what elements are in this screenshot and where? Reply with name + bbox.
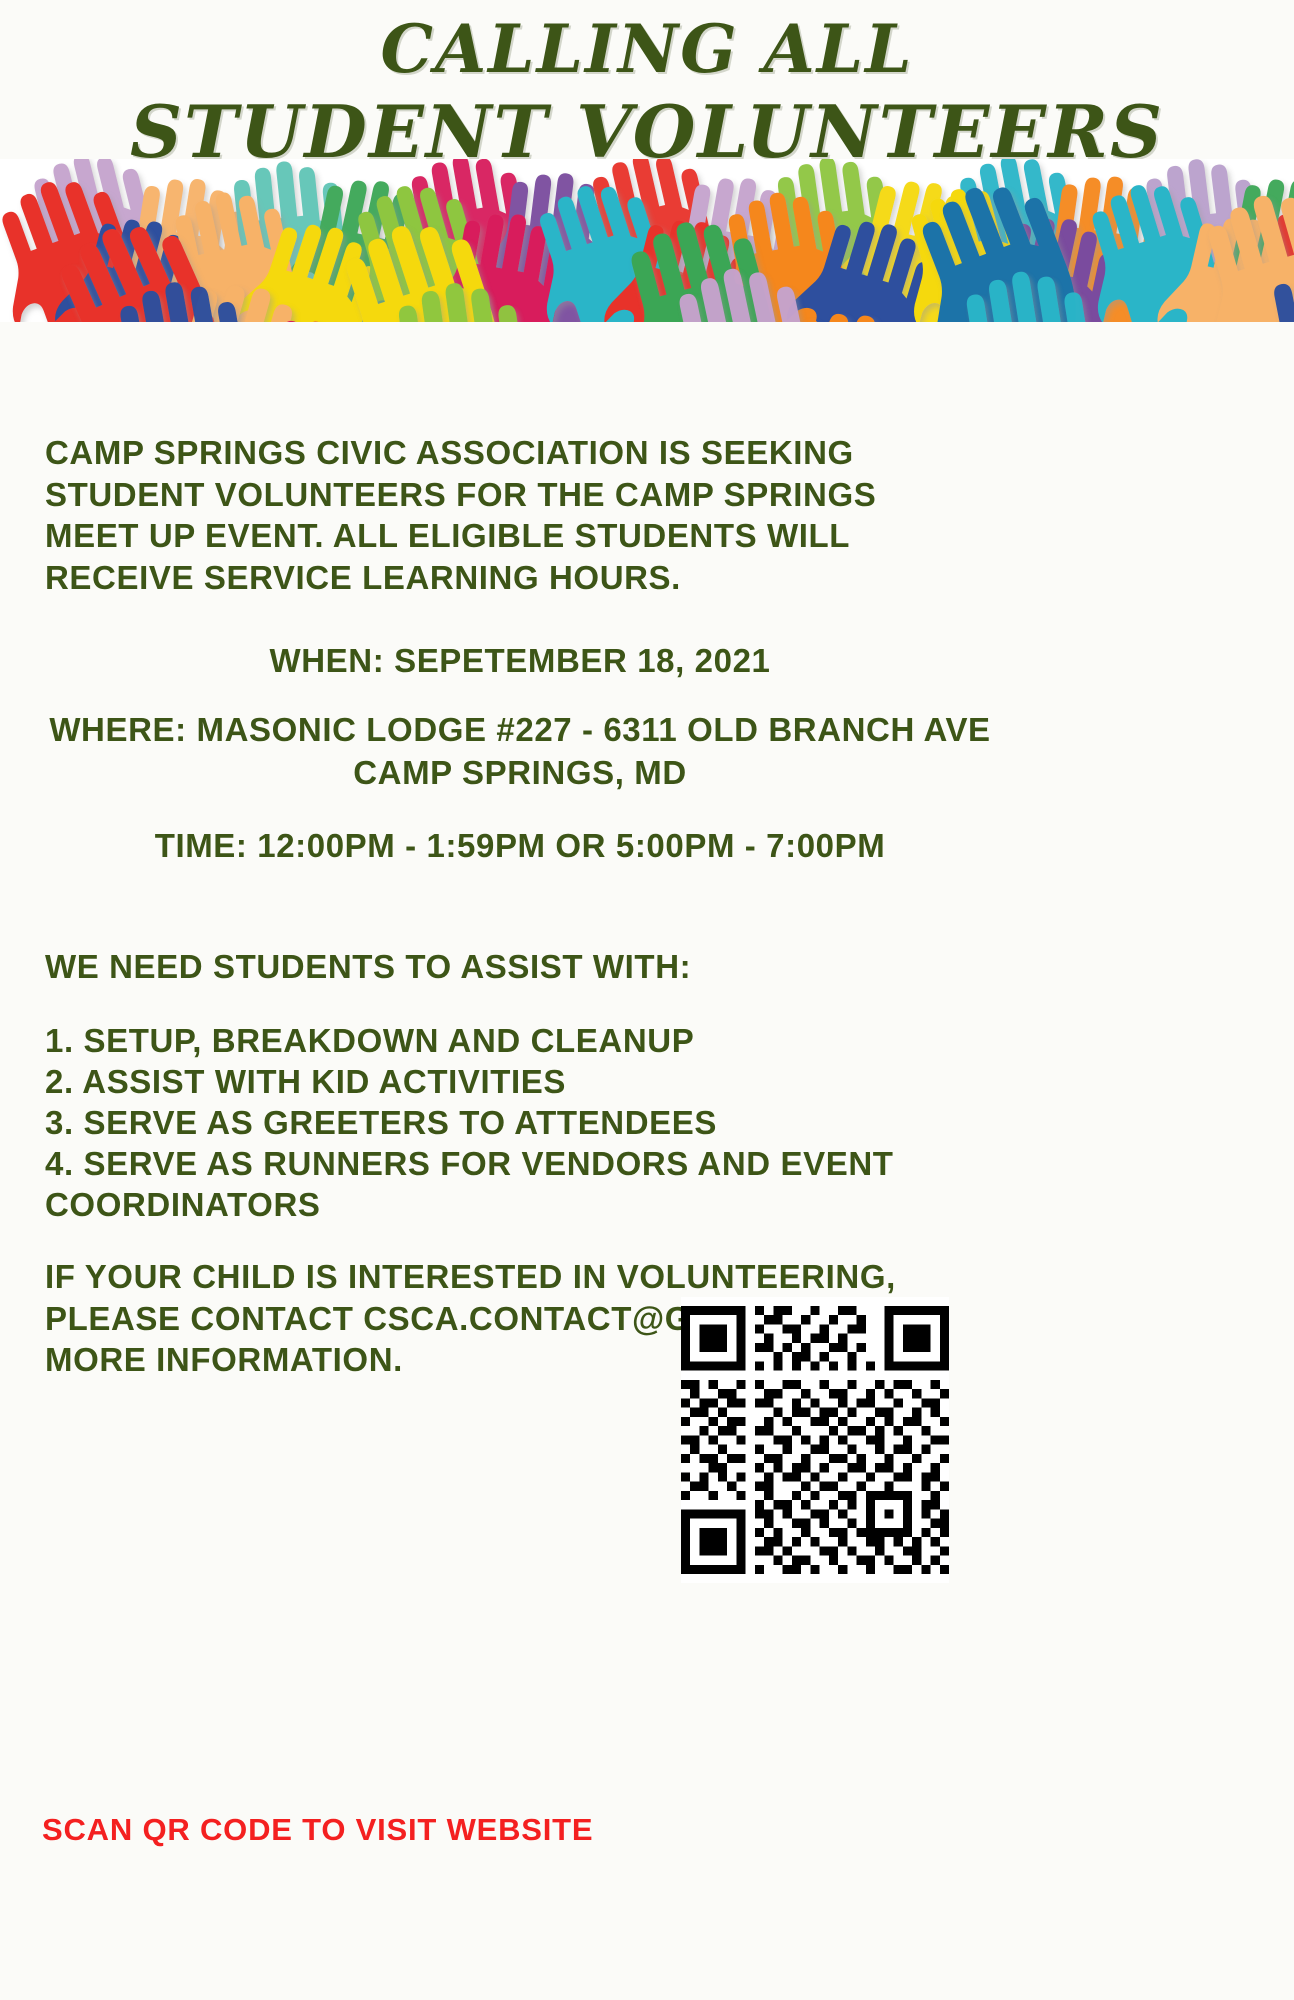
colorful-hands-banner (0, 159, 1294, 322)
list-item: 3. SERVE AS GREETERS TO ATTENDEES (45, 1103, 1005, 1144)
list-item: 4. SERVE AS RUNNERS FOR VENDORS AND EVEN… (45, 1144, 1005, 1226)
time-line: TIME: 12:00PM - 1:59PM OR 5:00PM - 7:00P… (45, 825, 995, 868)
when-line: WHEN: SEPETEMBER 18, 2021 (45, 640, 995, 683)
assist-heading: WE NEED STUDENTS TO ASSIST WITH: (45, 946, 980, 988)
title-line-1: CALLING ALL (0, 4, 1294, 83)
volunteer-flyer: CALLING ALL STUDENT VOLUNTEERS (0, 0, 1294, 2000)
flyer-body: CAMP SPRINGS CIVIC ASSOCIATION IS SEEKIN… (45, 432, 1250, 1381)
scan-qr-label: SCAN QR CODE TO VISIT WEBSITE (42, 1812, 593, 1848)
list-item: 2. ASSIST WITH KID ACTIVITIES (45, 1062, 1005, 1103)
list-item: 1. SETUP, BREAKDOWN AND CLEANUP (45, 1021, 1005, 1062)
where-line: WHERE: MASONIC LODGE #227 - 6311 OLD BRA… (45, 709, 995, 795)
flyer-title: CALLING ALL STUDENT VOLUNTEERS (0, 4, 1294, 169)
intro-paragraph: CAMP SPRINGS CIVIC ASSOCIATION IS SEEKIN… (45, 432, 980, 598)
qr-code[interactable] (681, 1297, 949, 1583)
title-line-2: STUDENT VOLUNTEERS (0, 83, 1294, 168)
